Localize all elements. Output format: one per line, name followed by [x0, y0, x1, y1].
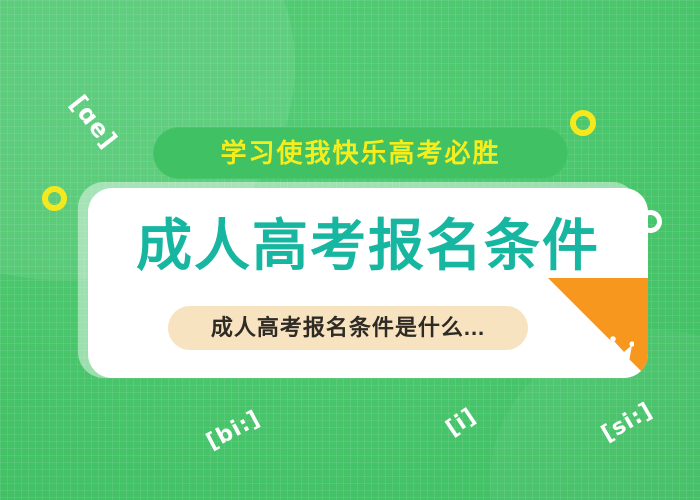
subtitle-text: 成人高考报名条件是什么... [211, 317, 485, 339]
yellow-ring-left-icon [42, 186, 67, 211]
slogan-banner: 学习使我快乐高考必胜 [153, 127, 568, 179]
corner-ribbon [528, 278, 648, 378]
slogan-banner-text: 学习使我快乐高考必胜 [220, 140, 500, 166]
subtitle-pill: 成人高考报名条件是什么... [168, 306, 528, 350]
yellow-ring-top-right-icon [570, 110, 596, 136]
main-card: 成人高考报名条件 成人高考报名条件是什么... [88, 188, 648, 378]
page-title: 成人高考报名条件 [88, 218, 648, 274]
poster-canvas: [ɑe] [bi:] [i] [si:] 学习使我快乐高考必胜 成人高考报名条件… [0, 0, 700, 500]
crown-icon [592, 336, 634, 366]
